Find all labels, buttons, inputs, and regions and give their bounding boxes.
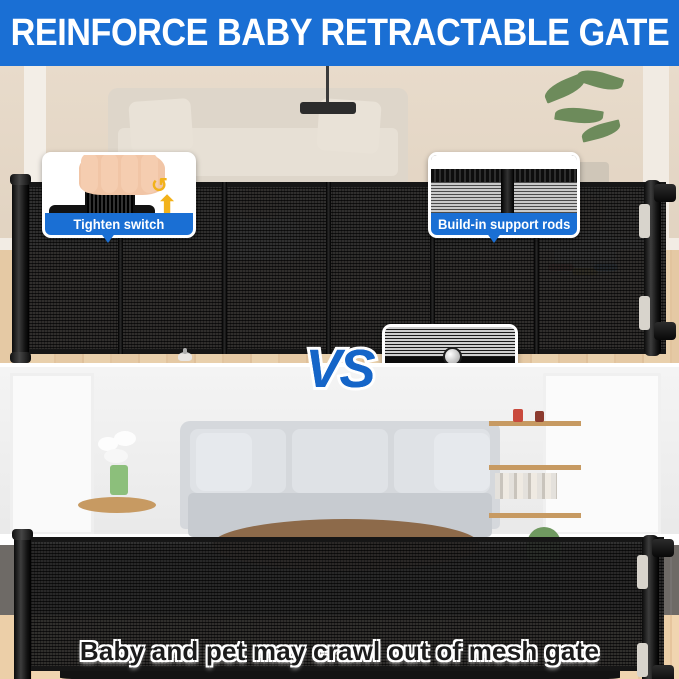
- finger: [101, 155, 118, 193]
- up-arrow-icon: ⬆: [157, 191, 177, 213]
- sofa-pillow-left: [196, 433, 252, 491]
- floor-lock-anchor[interactable]: [178, 352, 192, 361]
- wall-bracket-top[interactable]: [652, 539, 674, 557]
- callout-tail: [486, 232, 502, 243]
- support-rod: [222, 182, 227, 354]
- finger: [121, 155, 138, 193]
- gate-top-edge: [16, 537, 664, 542]
- decor-item: [513, 409, 523, 422]
- gate-floor-gap: [60, 671, 620, 679]
- gate-post-cap-bottom: [10, 352, 31, 363]
- vase: [110, 465, 128, 495]
- lily-bloom: [114, 431, 136, 446]
- top-sofa-pillow-left: [128, 98, 193, 154]
- shelf-row: [489, 513, 581, 518]
- gate-left-post[interactable]: [12, 178, 29, 358]
- gate-bottom-sag: [60, 671, 620, 679]
- floor-lamp-shade: [300, 102, 356, 114]
- mesh-top-white: [431, 155, 577, 169]
- finger: [81, 155, 98, 193]
- sofa-cushion: [292, 429, 388, 493]
- floor-lock-icon: [385, 327, 515, 363]
- support-rods-icon: [431, 155, 577, 213]
- callout-floor-lock: Floor lock installation: [382, 324, 518, 363]
- page-title: REINFORCE BABY RETRACTABLE GATE: [10, 12, 669, 55]
- vertical-support-rod: [501, 169, 514, 213]
- wall-bracket-bottom[interactable]: [652, 665, 674, 679]
- tighten-switch-icon: ↺ ⬆: [45, 155, 193, 213]
- callout-label: Tighten switch: [45, 213, 193, 235]
- sofa-pillow-right: [434, 433, 490, 491]
- plant-leaf: [554, 105, 604, 127]
- support-rod: [326, 182, 331, 354]
- bracket-pad-top: [637, 555, 648, 589]
- wall-molding-left: [10, 373, 94, 535]
- callout-label: Build-in support rods: [431, 213, 577, 235]
- callout-tail: [100, 232, 116, 243]
- lily-bloom: [104, 449, 128, 463]
- wall-bracket-top[interactable]: [654, 184, 676, 202]
- floor-lamp-stem: [326, 66, 329, 104]
- vs-label: VS: [305, 338, 373, 400]
- floor-lock-knob: [443, 347, 462, 363]
- bottom-panel: Baby and pet may crawl out of mesh gate: [0, 367, 679, 679]
- lily-flowers: [96, 431, 144, 489]
- product-comparison-image: REINFORCE BABY RETRACTABLE GATE: [0, 0, 679, 679]
- callout-support-rods: Build-in support rods: [428, 152, 580, 238]
- side-table: [78, 497, 156, 513]
- header-banner: REINFORCE BABY RETRACTABLE GATE: [0, 0, 679, 66]
- wall-bracket-bottom[interactable]: [654, 322, 676, 340]
- bracket-pad-bottom: [639, 296, 650, 330]
- bottom-caption: Baby and pet may crawl out of mesh gate: [0, 636, 679, 667]
- shelf-row: [489, 421, 581, 426]
- plant-leaf: [576, 66, 625, 95]
- top-panel: ↺ ⬆ Tighten switch Build-in support rods: [0, 66, 679, 363]
- callout-tighten-switch: ↺ ⬆ Tighten switch: [42, 152, 196, 238]
- gate-post-cap-top: [10, 174, 31, 185]
- shelf-row: [489, 465, 581, 470]
- bracket-pad-top: [639, 204, 650, 238]
- gate-post-cap-top: [12, 529, 33, 540]
- books: [495, 473, 557, 499]
- decor-item: [535, 411, 544, 422]
